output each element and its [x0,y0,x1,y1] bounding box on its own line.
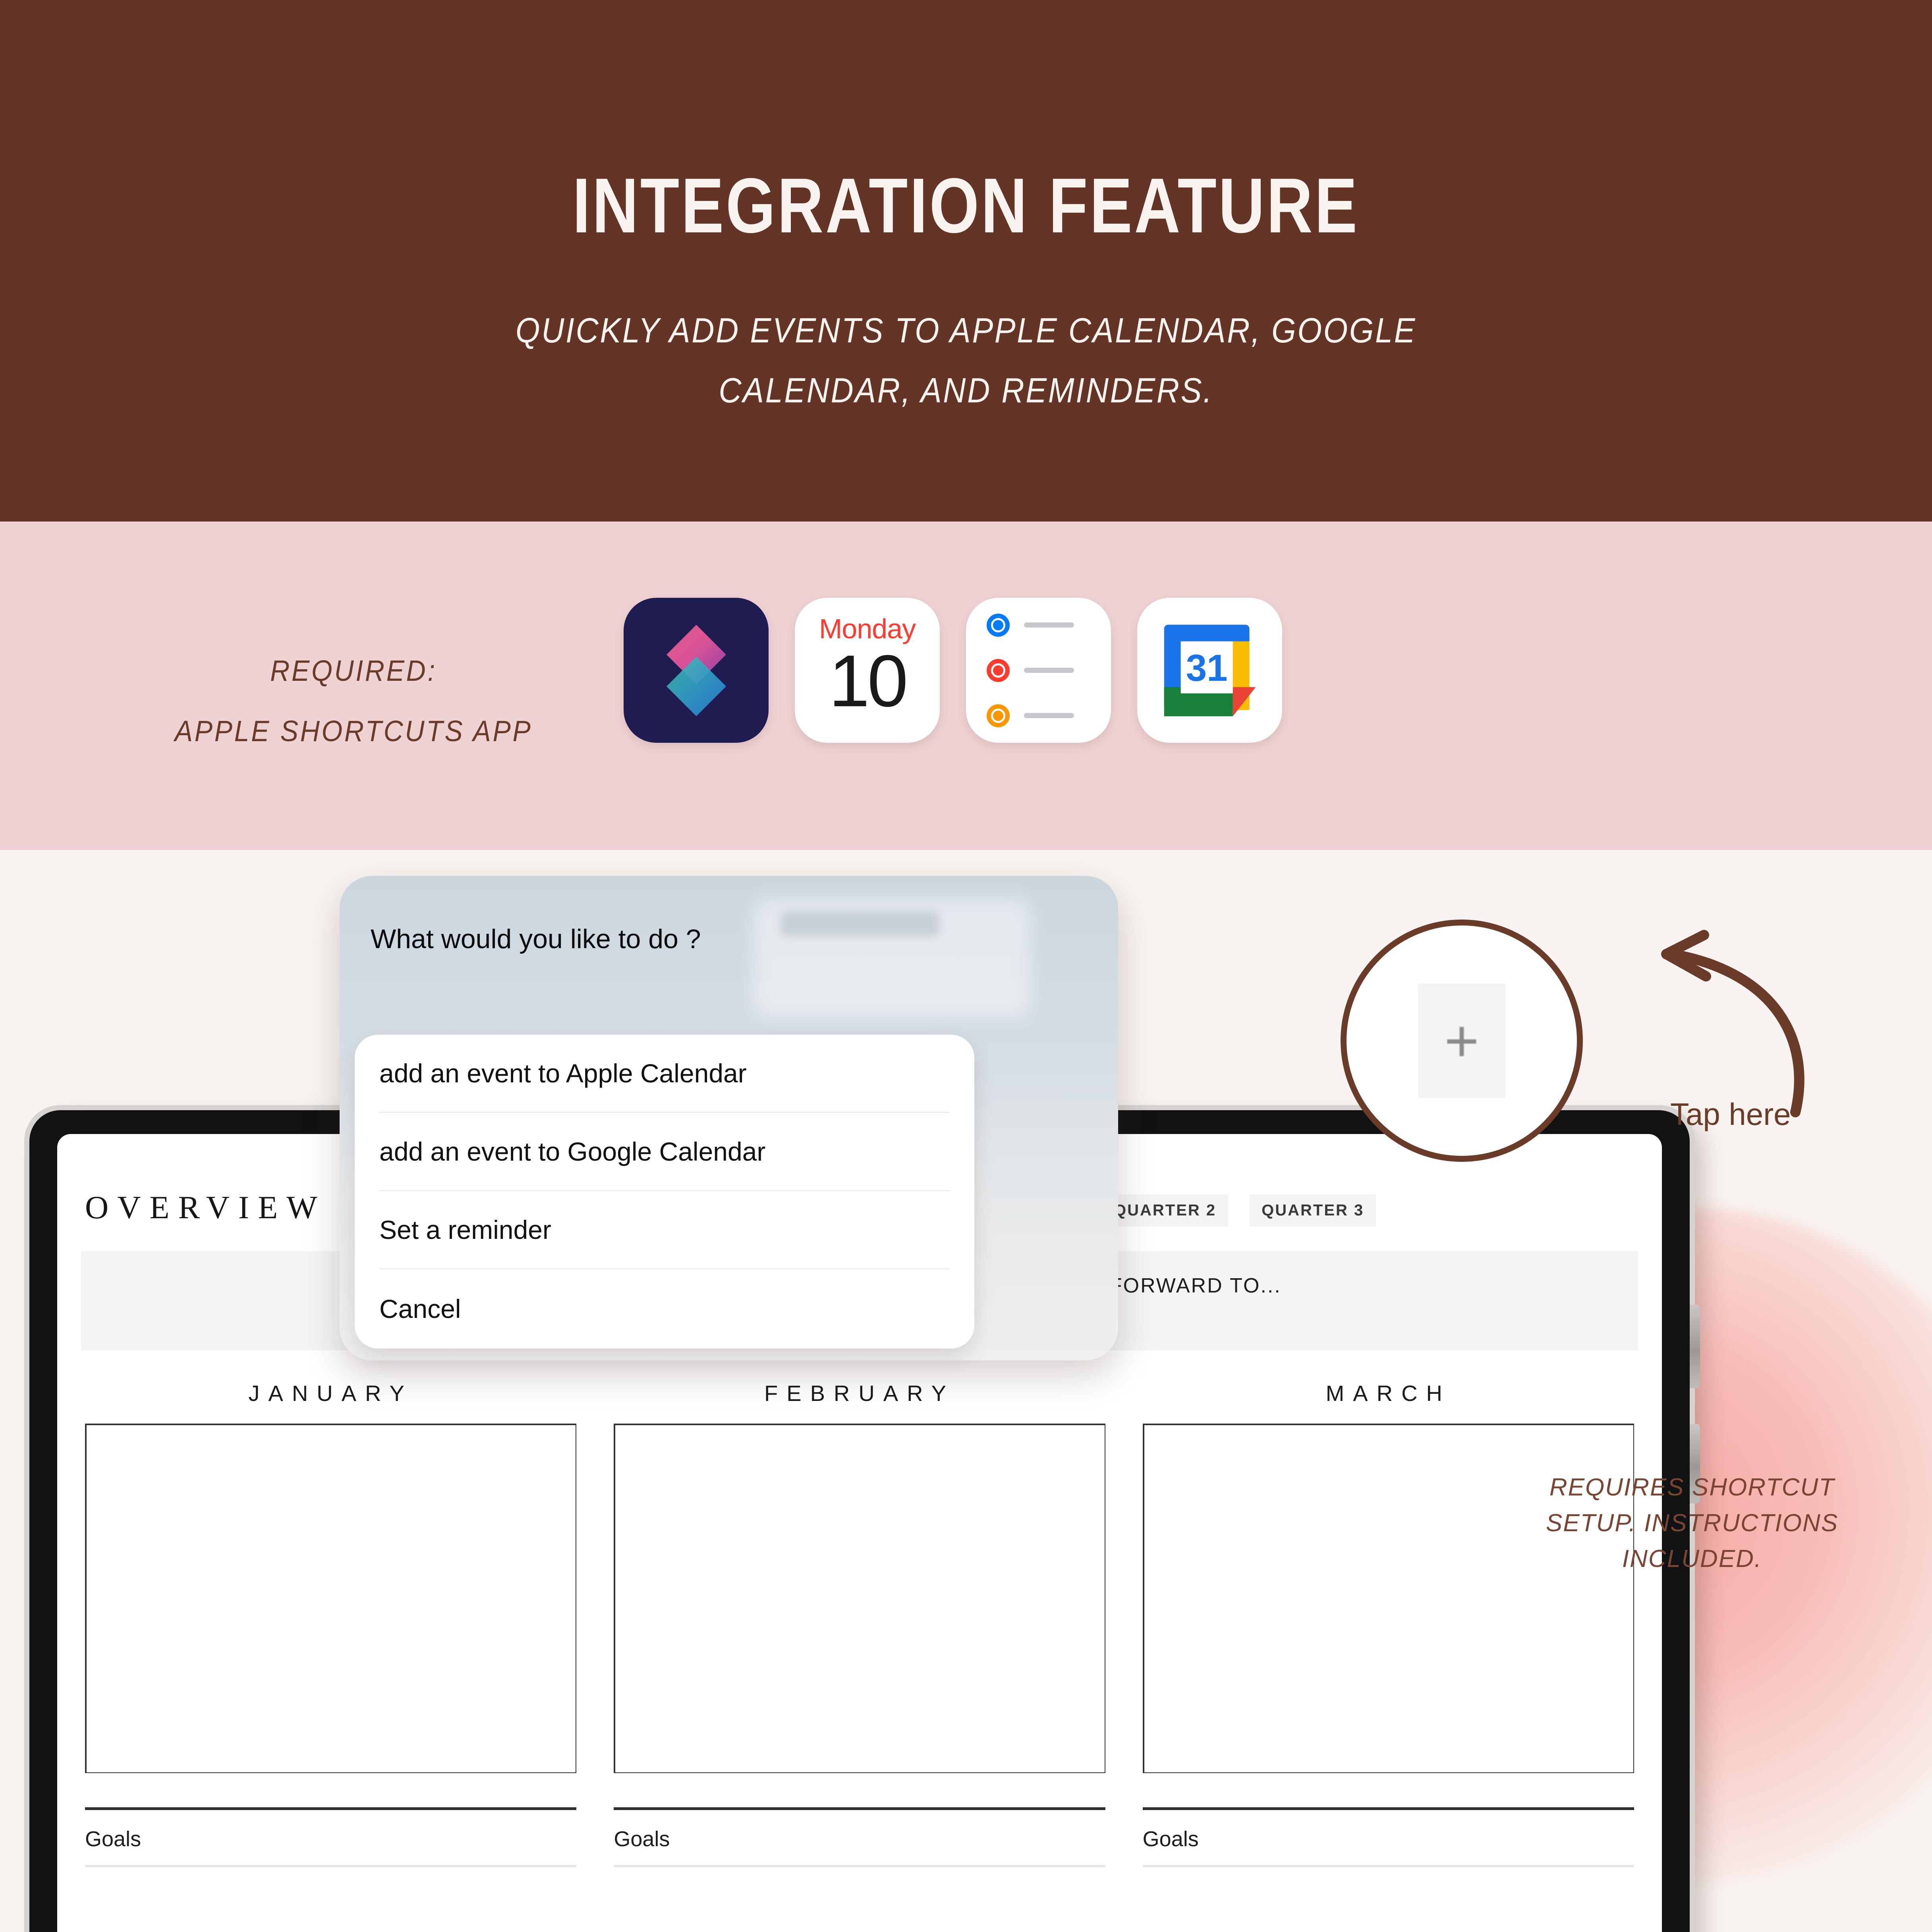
volume-up-button[interactable] [1690,1305,1700,1388]
goal-write-line[interactable] [614,1865,1105,1867]
goal-write-line[interactable] [1143,1865,1634,1867]
note-line-1: REQUIRES SHORTCUT [1505,1470,1879,1505]
page-title: INTEGRATION FEATURE [573,167,1359,245]
requirements-text: REQUIRED: APPLE SHORTCUTS APP [149,641,558,761]
note-line-2: SETUP. INSTRUCTIONS [1505,1505,1879,1541]
tap-here-label: Tap here [1670,1096,1791,1132]
goal-divider [1143,1807,1634,1810]
svg-text:31: 31 [1186,647,1227,689]
required-value: APPLE SHORTCUTS APP [149,701,558,761]
reminder-line [1024,713,1074,718]
requirements-band: REQUIRED: APPLE SHORTCUTS APP [0,522,1932,850]
tab-quarter-2[interactable]: QUARTER 2 [1102,1194,1228,1227]
header-band: INTEGRATION FEATURE QUICKLY ADD EVENTS T… [0,0,1932,522]
dialog-option-set-reminder[interactable]: Set a reminder [379,1191,950,1269]
apple-calendar-app-icon[interactable]: Monday 10 [795,598,940,743]
reminder-line [1024,668,1074,673]
reminder-dot-orange-icon [987,704,1010,727]
goals-label: Goals [614,1827,1105,1851]
goal-divider [614,1807,1105,1810]
month-notes-box[interactable] [85,1424,576,1773]
dialog-option-apple-calendar[interactable]: add an event to Apple Calendar [379,1035,950,1113]
note-line-3: INCLUDED. [1505,1541,1879,1577]
dialog-options-card: add an event to Apple Calendar add an ev… [355,1035,974,1349]
reminder-row [987,659,1111,682]
subtitle-line-1: QUICKLY ADD EVENTS TO APPLE CALENDAR, GO… [430,300,1502,360]
reminder-row [987,614,1111,637]
month-column: MARCH Goals [1143,1380,1634,1867]
reminder-dot-blue-icon [987,614,1010,637]
reminder-row [987,704,1111,727]
reminder-dot-red-icon [987,659,1010,682]
month-title: FEBRUARY [614,1380,1105,1406]
quarter-tab-group: QUARTER 2 QUARTER 3 [1102,1194,1376,1227]
goals-label: Goals [85,1827,576,1851]
dialog-question: What would you like to do ? [371,923,701,954]
highlight-circle: + [1341,920,1583,1162]
shortcut-setup-note: REQUIRES SHORTCUT SETUP. INSTRUCTIONS IN… [1505,1470,1879,1577]
google-calendar-glyph-icon: 31 [1158,618,1262,723]
shortcuts-app-icon[interactable] [624,598,769,743]
goal-divider [85,1807,576,1810]
dialog-blur-decoration [781,912,939,936]
page-subtitle: QUICKLY ADD EVENTS TO APPLE CALENDAR, GO… [430,300,1502,421]
calendar-date: 10 [829,639,906,723]
google-calendar-app-icon[interactable]: 31 [1137,598,1282,743]
reminder-line [1024,622,1074,628]
required-label: REQUIRED: [149,641,558,701]
add-event-button[interactable]: + [1418,983,1505,1098]
plus-icon: + [1444,1017,1479,1065]
shortcuts-glyph-icon [647,621,746,720]
month-column: JANUARY Goals [85,1380,576,1867]
app-icon-row: Monday 10 [624,598,1282,743]
tab-quarter-3[interactable]: QUARTER 3 [1250,1194,1376,1227]
month-column: FEBRUARY Goals [614,1380,1105,1867]
shortcut-action-dialog: What would you like to do ? add an event… [340,876,1118,1360]
goals-label: Goals [1143,1827,1634,1851]
dialog-option-google-calendar[interactable]: add an event to Google Calendar [379,1113,950,1191]
subtitle-line-2: CALENDAR, AND REMINDERS. [430,360,1502,420]
month-title: JANUARY [85,1380,576,1406]
goal-write-line[interactable] [85,1865,576,1867]
month-grid: JANUARY Goals FEBRUARY Goals MARCH [85,1380,1634,1867]
month-title: MARCH [1143,1380,1634,1406]
reminders-app-icon[interactable] [966,598,1111,743]
month-notes-box[interactable] [614,1424,1105,1773]
overview-title: OVERVIEW [85,1189,326,1226]
dialog-option-cancel[interactable]: Cancel [379,1269,950,1348]
